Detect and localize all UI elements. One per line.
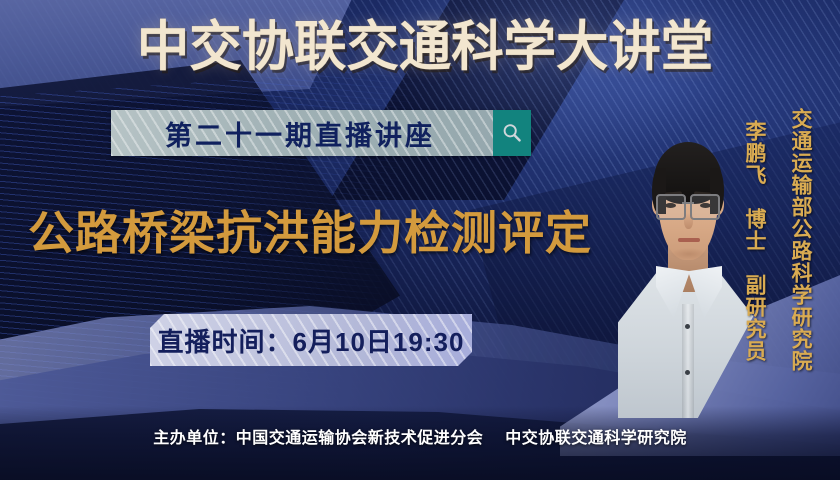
glasses-lens-right (690, 194, 720, 220)
speaker-name-title: 李鹏飞 博士 副研究员 (740, 120, 770, 362)
lecture-title: 公路桥梁抗洪能力检测评定 (28, 204, 628, 262)
portrait-nose (684, 213, 693, 229)
portrait-chin-shade (670, 248, 708, 260)
live-time-text: 直播时间：6月10日19:30 (150, 314, 472, 366)
portrait-shirt-placket (682, 304, 694, 424)
credit-prefix: 主办单位： (153, 424, 236, 448)
poster-canvas: 中交协联交通科学大讲堂 第二十一期直播讲座 公路桥梁抗洪能力检测评定 直播时间：… (0, 0, 840, 480)
glasses-bridge (682, 202, 694, 204)
live-time-pill: 直播时间：6月10日19:30 (150, 314, 472, 366)
subtitle-label: 第二十一期直播讲座 (111, 110, 489, 156)
speaker-institute: 交通运输部公路科学研究院 (786, 108, 816, 372)
portrait-shirt-button (685, 370, 690, 375)
search-icon (501, 122, 523, 144)
portrait-shirt-button (685, 324, 690, 329)
portrait-mouth (678, 238, 700, 242)
credit-line: 主办单位： 中国交通运输协会新技术促进分会 中交协联交通科学研究院 (0, 424, 840, 448)
glasses-lens-left (656, 194, 686, 220)
subtitle-bar: 第二十一期直播讲座 (111, 110, 531, 156)
credit-organizer-2: 中交协联交通科学研究院 (505, 424, 687, 448)
page-title: 中交协联交通科学大讲堂 (150, 16, 699, 78)
search-button[interactable] (493, 110, 531, 156)
credit-organizer-1: 中国交通运输协会新技术促进分会 (236, 424, 484, 448)
